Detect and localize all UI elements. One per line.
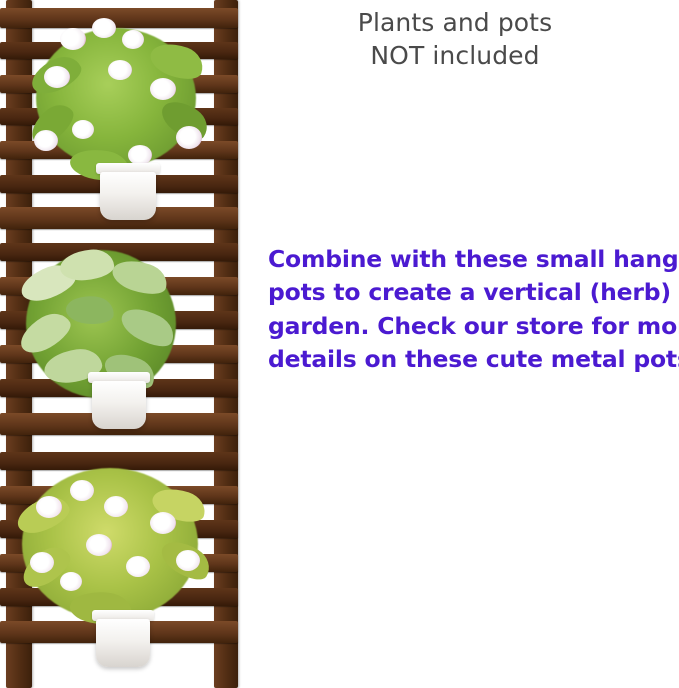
flower xyxy=(122,30,144,49)
flower xyxy=(44,66,70,88)
product-photo xyxy=(0,0,247,688)
flower xyxy=(104,496,128,517)
flower xyxy=(108,60,132,80)
flower xyxy=(30,552,54,573)
flower xyxy=(176,126,202,149)
flower xyxy=(70,480,94,501)
notice-line-2: NOT included xyxy=(245,39,665,72)
product-image-page: Plants and pots NOT included Combine wit… xyxy=(0,0,679,688)
flower xyxy=(176,550,200,571)
promo-text: Combine with these small hanging pots to… xyxy=(268,243,668,376)
promo-line-2: pots to create a vertical (herb) xyxy=(268,276,668,309)
notice-line-1: Plants and pots xyxy=(245,6,665,39)
flower xyxy=(60,28,86,50)
promo-line-3: garden. Check our store for more xyxy=(268,310,668,343)
pot xyxy=(92,381,146,429)
flower xyxy=(92,18,116,38)
rack-rail-right xyxy=(214,0,238,688)
promo-line-4: details on these cute metal pots xyxy=(268,343,668,376)
pot xyxy=(96,619,150,667)
flower xyxy=(150,512,176,534)
flower xyxy=(86,534,112,556)
flower xyxy=(150,78,176,100)
flower xyxy=(34,130,58,151)
pot xyxy=(100,172,156,220)
rack-slat xyxy=(0,452,238,470)
flower xyxy=(128,145,152,165)
flower xyxy=(36,496,62,518)
flower xyxy=(60,572,82,591)
flower xyxy=(126,556,150,577)
flower xyxy=(72,120,94,139)
rack-slat xyxy=(0,8,238,28)
promo-line-1: Combine with these small hanging xyxy=(268,243,668,276)
not-included-notice: Plants and pots NOT included xyxy=(245,6,665,72)
